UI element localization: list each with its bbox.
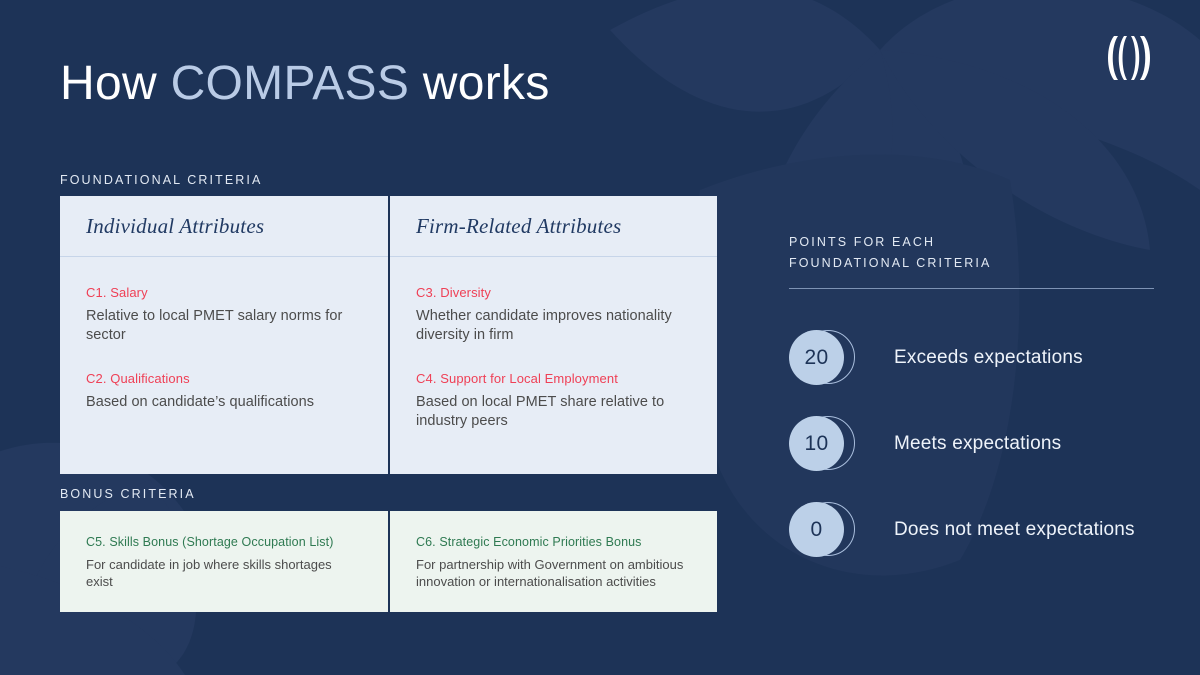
criteria-list-individual: C1. Salary Relative to local PMET salary…: [60, 257, 388, 412]
point-badge-0: 0: [789, 502, 861, 558]
bonus-column-strategic: C6. Strategic Economic Priorities Bonus …: [388, 511, 717, 612]
slide-root: How COMPASS works FOUNDATIONAL CRITERIA …: [0, 0, 1200, 675]
point-badge-20: 20: [789, 330, 861, 386]
foundational-column-individual: Individual Attributes C1. Salary Relativ…: [60, 196, 388, 474]
badge-circle: 0: [789, 502, 844, 557]
criterion-c4-label: C4. Support for Local Employment: [416, 371, 691, 386]
points-divider: [789, 288, 1154, 289]
point-row-exceeds: 20 Exceeds expectations: [789, 315, 1154, 401]
foundational-criteria-eyebrow: FOUNDATIONAL CRITERIA: [60, 173, 262, 187]
criterion-c1: C1. Salary Relative to local PMET salary…: [86, 285, 362, 345]
criterion-c4: C4. Support for Local Employment Based o…: [416, 371, 691, 431]
foundational-column-firm: Firm-Related Attributes C3. Diversity Wh…: [388, 196, 717, 474]
criterion-c3-description: Whether candidate improves nationality d…: [416, 307, 691, 345]
points-panel: POINTS FOR EACH FOUNDATIONAL CRITERIA 20…: [789, 232, 1154, 573]
bonus-criteria-eyebrow: BONUS CRITERIA: [60, 487, 196, 501]
point-value-20: 20: [805, 346, 829, 370]
point-label-meets: Meets expectations: [894, 433, 1061, 455]
criterion-c2: C2. Qualifications Based on candidate’s …: [86, 371, 362, 412]
criteria-list-firm: C3. Diversity Whether candidate improves…: [390, 257, 717, 431]
column-header-firm: Firm-Related Attributes: [390, 196, 717, 257]
badge-circle: 20: [789, 330, 844, 385]
criterion-c3: C3. Diversity Whether candidate improves…: [416, 285, 691, 345]
bonus-criteria-card: C5. Skills Bonus (Shortage Occupation Li…: [60, 511, 717, 612]
point-row-does-not-meet: 0 Does not meet expectations: [789, 487, 1154, 573]
criterion-c1-description: Relative to local PMET salary norms for …: [86, 307, 362, 345]
column-header-individual-label: Individual Attributes: [60, 214, 264, 239]
criterion-c3-label: C3. Diversity: [416, 285, 691, 300]
badge-circle: 10: [789, 416, 844, 471]
column-header-individual: Individual Attributes: [60, 196, 388, 257]
criterion-c5-label: C5. Skills Bonus (Shortage Occupation Li…: [86, 535, 362, 549]
foundational-criteria-card: Individual Attributes C1. Salary Relativ…: [60, 196, 717, 474]
point-label-does-not-meet: Does not meet expectations: [894, 519, 1135, 541]
brackets-logo: [1100, 32, 1158, 84]
title-trail: works: [409, 57, 549, 110]
criterion-c6: C6. Strategic Economic Priorities Bonus …: [390, 511, 717, 590]
criterion-c6-description: For partnership with Government on ambit…: [416, 556, 691, 590]
point-value-0: 0: [811, 518, 823, 542]
criterion-c1-label: C1. Salary: [86, 285, 362, 300]
point-row-meets: 10 Meets expectations: [789, 401, 1154, 487]
column-header-firm-label: Firm-Related Attributes: [390, 214, 621, 239]
points-panel-heading: POINTS FOR EACH FOUNDATIONAL CRITERIA: [789, 232, 1154, 274]
point-label-exceeds: Exceeds expectations: [894, 347, 1083, 369]
points-heading-line-2: FOUNDATIONAL CRITERIA: [789, 253, 1154, 274]
criterion-c4-description: Based on local PMET share relative to in…: [416, 393, 691, 431]
page-title: How COMPASS works: [60, 56, 550, 111]
criterion-c2-description: Based on candidate’s qualifications: [86, 393, 362, 412]
points-heading-line-1: POINTS FOR EACH: [789, 232, 1154, 253]
criterion-c5: C5. Skills Bonus (Shortage Occupation Li…: [60, 511, 388, 590]
criterion-c6-label: C6. Strategic Economic Priorities Bonus: [416, 535, 691, 549]
points-list: 20 Exceeds expectations 10 Meets expecta…: [789, 315, 1154, 573]
point-value-10: 10: [805, 432, 829, 456]
point-badge-10: 10: [789, 416, 861, 472]
title-lead: How: [60, 57, 171, 110]
title-accent: COMPASS: [171, 57, 410, 110]
criterion-c5-description: For candidate in job where skills shorta…: [86, 556, 362, 590]
bonus-column-skills: C5. Skills Bonus (Shortage Occupation Li…: [60, 511, 388, 612]
criterion-c2-label: C2. Qualifications: [86, 371, 362, 386]
